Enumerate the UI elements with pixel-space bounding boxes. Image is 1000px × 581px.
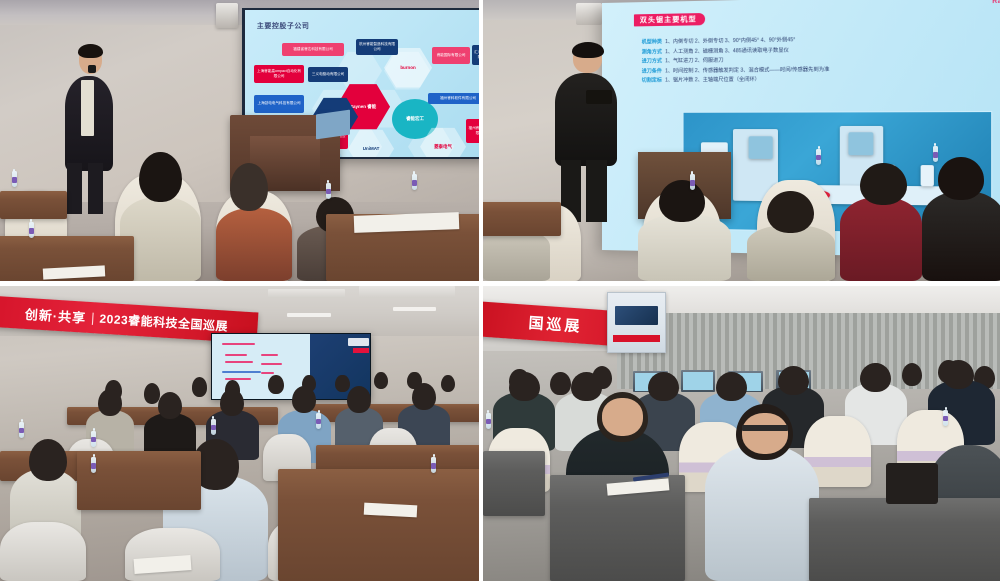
ceiling-vent-icon [576, 3, 602, 25]
water-bottle [933, 146, 938, 162]
slide-title: 主要控股子公司 [257, 21, 310, 31]
photo-panel-top-right: Raynen 双头锯主要机型 机型种类 1、内倒专切 2、外倒专切 3、90°内… [483, 0, 1000, 281]
company-tag: 福建省睿达科技有限公司 [282, 43, 344, 56]
banner-separator: | [91, 310, 95, 325]
company-tag: 三义电驱动有限公司 [308, 67, 348, 82]
ceiling-light-icon [287, 313, 330, 318]
handout-paper [354, 212, 460, 233]
water-bottle [29, 222, 34, 238]
chair [0, 522, 86, 581]
banner-event-title: 2023睿能科技全国巡展 [99, 310, 229, 335]
company-tag: 汇川电子有限公司 [472, 45, 479, 65]
water-bottle [12, 171, 17, 187]
conference-table [483, 202, 561, 236]
brand-logo: Raynen [992, 0, 1000, 5]
conference-table [809, 498, 1000, 581]
spec-value: 1、内倒专切 2、外倒专切 3、90°内侧45° 4、90°外侧45° [665, 37, 795, 45]
spec-label: 机型种类 [642, 39, 662, 45]
water-bottle [19, 422, 24, 438]
machine-control-panel [849, 132, 874, 155]
water-bottle [326, 183, 331, 199]
ceiling-panel [268, 289, 345, 298]
company-tag: 福州睿科软件有限公司 [428, 93, 479, 104]
photo-panel-bottom-right: 国巡展 [483, 286, 1000, 581]
water-bottle [91, 457, 96, 473]
company-tag: 杭州睿能智造科技有限公司 [356, 39, 398, 55]
attendee-head [938, 157, 985, 199]
water-bottle [690, 174, 695, 190]
microphone-icon [88, 65, 96, 73]
attendee-face [602, 398, 643, 436]
speaker-hair [78, 44, 104, 58]
attendee-head [659, 180, 706, 222]
machine-clamp [921, 165, 934, 187]
spec-value: 1、锯片冲数 2、主轴端尺位置（全闭环） [665, 77, 760, 84]
presenter-shirt [555, 73, 617, 166]
machine-control-panel [748, 136, 772, 159]
spec-label: 进刀条件 [642, 68, 662, 74]
water-bottle [211, 419, 216, 435]
spec-value: 1、人工测角 2、磁栅测角 3、485通讯读取电子数显仪 [665, 47, 789, 55]
slide-thumb [348, 338, 368, 346]
attendee-shirt [840, 197, 923, 281]
conference-table [483, 451, 545, 516]
attendee-shirt [216, 208, 293, 281]
banner-text: 国巡展 [528, 312, 583, 337]
spec-value: 1、时间控制 2、传感器触发判定 3、混合模式——时间/传感器先到为准 [665, 66, 829, 74]
water-bottle [486, 413, 491, 429]
speaker-leg [67, 163, 82, 214]
rollup-image [615, 306, 658, 325]
speaker-shirt [81, 80, 93, 136]
attendee-shirt [705, 445, 819, 581]
attendee-head [139, 152, 182, 203]
slide-spec-list: 机型种类 1、内倒专切 2、外倒专切 3、90°内侧45° 4、90°外侧45°… [642, 34, 1000, 87]
water-bottle [91, 431, 96, 447]
attendee-shirt [638, 214, 731, 281]
water-bottle [943, 410, 948, 426]
attendee-head [29, 439, 67, 480]
presenter-leg [586, 160, 607, 222]
attendee-head [860, 163, 907, 205]
attendee-head [230, 163, 268, 211]
ceiling-panel [359, 286, 455, 298]
conference-table [0, 191, 67, 219]
photo-panel-bottom-left: 创新·共享 | 2023睿能科技全国巡展 [0, 286, 479, 581]
water-bottle [431, 457, 436, 473]
ceiling-light-icon [393, 307, 436, 312]
attendee-shirt [747, 225, 835, 281]
slide-accent-bar [353, 348, 369, 353]
rollup-accent-bar [613, 335, 661, 342]
spec-label: 进刀方式 [642, 58, 662, 64]
spec-label: 测角方式 [642, 49, 662, 55]
attendee-shirt [483, 230, 550, 281]
spec-row: 进刀条件 1、时间控制 2、传感器触发判定 3、混合模式——时间/传感器先到为准 [642, 64, 1000, 74]
water-bottle [316, 413, 321, 429]
spec-row: 切割定标 1、锯片冲数 2、主轴端尺位置（全闭环） [642, 74, 1000, 83]
spec-value: 1、气缸进刀 2、伺服进刀 [665, 57, 723, 64]
glasses-icon [742, 425, 789, 431]
ceiling-vent-icon [216, 3, 238, 28]
photo-panel-top-left: 主要控股子公司 burnon Raynen 睿能 汇川电气 睿能宏工 菱泰电气 … [0, 0, 479, 281]
spec-row: 进刀方式 1、气缸进刀 2、伺服进刀 [642, 54, 1000, 64]
attendee-shirt [922, 191, 1000, 281]
photo-collage: 主要控股子公司 burnon Raynen 睿能 汇川电气 睿能宏工 菱泰电气 … [0, 0, 1000, 581]
conference-table [278, 469, 479, 581]
monitor-icon [681, 370, 716, 392]
attendee-face [742, 413, 789, 454]
camera-icon [586, 90, 612, 104]
spec-row: 测角方式 1、人工测角 2、磁栅测角 3、485通讯读取电子数显仪 [642, 44, 1000, 55]
water-bottle [412, 174, 417, 190]
water-bottle [816, 149, 821, 165]
spec-label: 切割定标 [642, 77, 662, 83]
presenter-hair [572, 42, 604, 57]
attendee-head [767, 191, 814, 233]
company-tag: 睿能国际有限公司 [432, 47, 470, 64]
company-tag: 上海劲电电气科技有限公司 [254, 95, 304, 113]
company-tag: 上海睿能高ompact自动化有限公司 [254, 65, 304, 83]
company-tag: 福州睿能电气有限公司 [466, 119, 479, 143]
handbag [886, 463, 938, 504]
slide-title: 双头锯主要机型 [634, 13, 705, 26]
rollup-banner [607, 292, 666, 353]
banner-slogan: 创新·共享 [25, 304, 87, 327]
speaker-leg [88, 163, 103, 214]
